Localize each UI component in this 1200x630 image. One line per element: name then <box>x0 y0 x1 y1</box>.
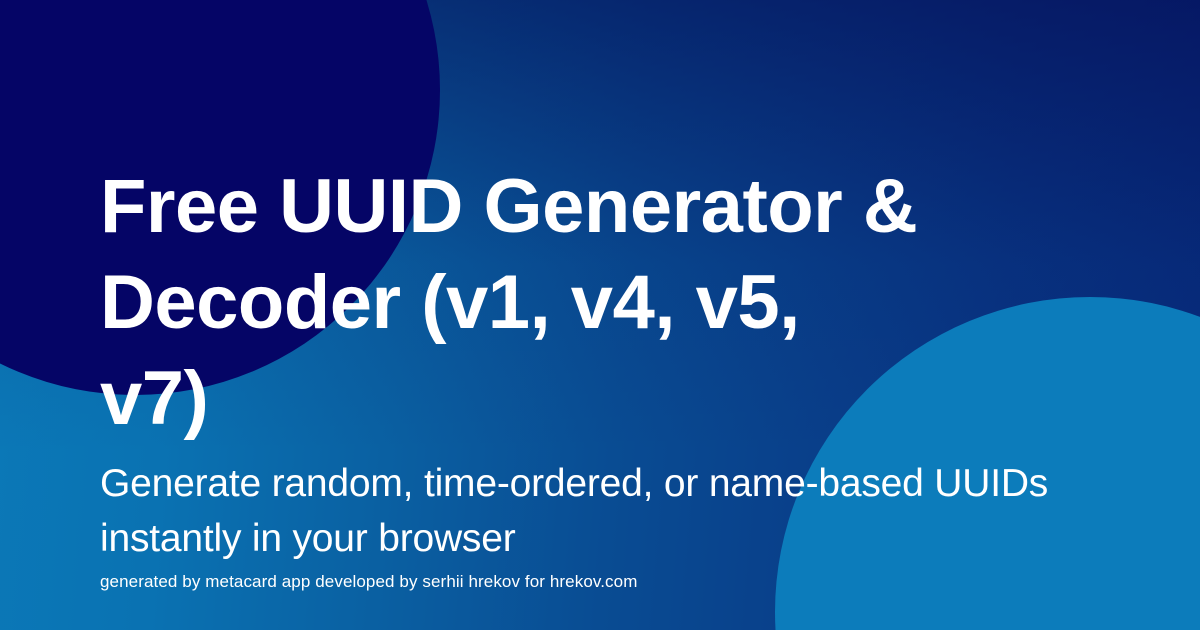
card-headline: Free UUID Generator & Decoder (v1, v4, v… <box>100 159 1110 447</box>
card-content: Free UUID Generator & Decoder (v1, v4, v… <box>100 0 1200 630</box>
og-share-card: Free UUID Generator & Decoder (v1, v4, v… <box>0 0 1200 630</box>
card-subheadline: Generate random, time-ordered, or name-b… <box>100 456 1200 566</box>
card-credit-line: generated by metacard app developed by s… <box>100 572 637 592</box>
